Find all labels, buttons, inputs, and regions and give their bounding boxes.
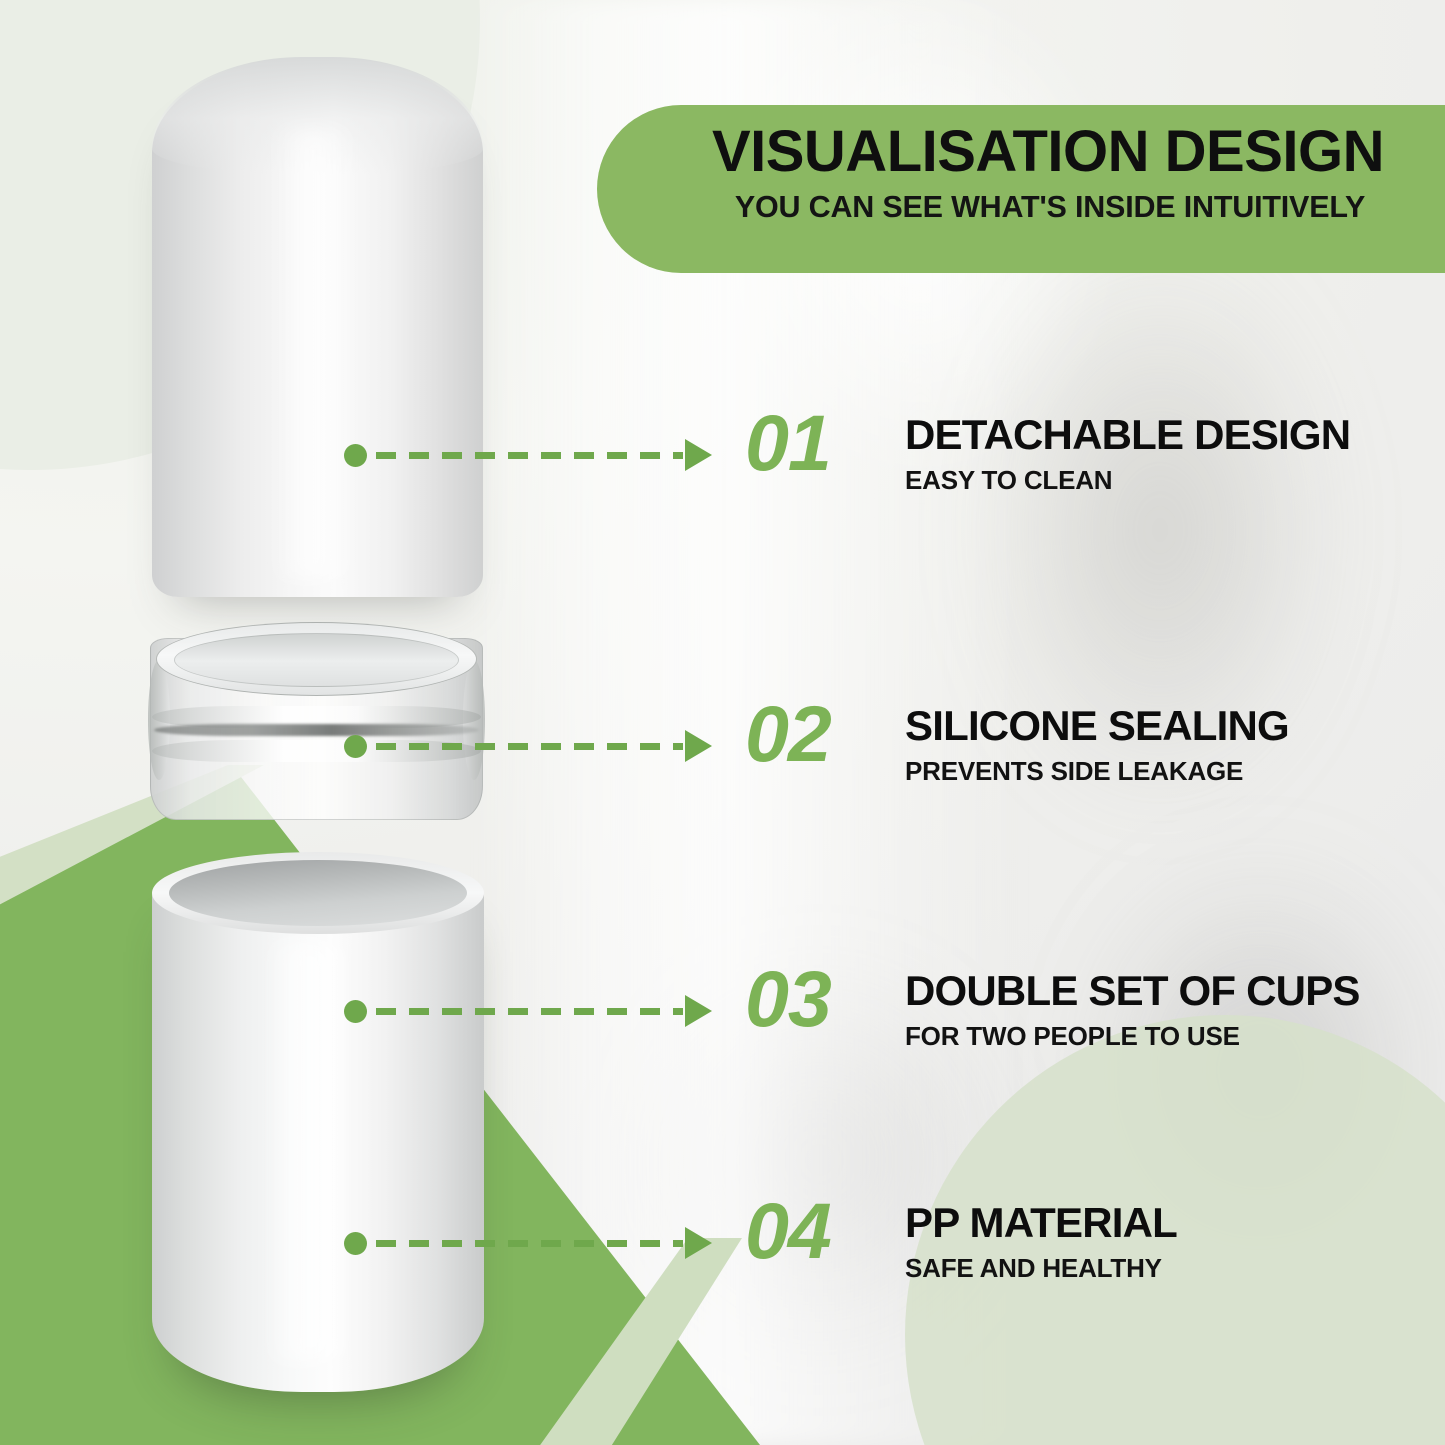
product-top-cap <box>152 57 483 597</box>
callout-subtitle: SAFE AND HEALTHY <box>905 1254 1177 1283</box>
callout-title: DETACHABLE DESIGN <box>905 414 1350 457</box>
cup-highlight <box>264 942 356 1362</box>
cup-rim-inner <box>169 860 467 926</box>
callout-title: SILICONE SEALING <box>905 705 1289 748</box>
ring-top-inner-wall <box>174 633 459 687</box>
callout-2: 02 SILICONE SEALING PREVENTS SIDE LEAKAG… <box>745 705 1289 785</box>
callout-title: PP MATERIAL <box>905 1202 1177 1245</box>
callout-text-block: DOUBLE SET OF CUPS FOR TWO PEOPLE TO USE <box>905 970 1360 1050</box>
arrow-right-icon <box>685 730 712 762</box>
callout-subtitle: FOR TWO PEOPLE TO USE <box>905 1022 1360 1051</box>
header-banner: VISUALISATION DESIGN YOU CAN SEE WHAT'S … <box>597 105 1445 273</box>
callout-title: DOUBLE SET OF CUPS <box>905 970 1360 1013</box>
page-title: VISUALISATION DESIGN <box>647 121 1435 182</box>
connector-line-4 <box>344 1228 712 1258</box>
connector-dashes <box>376 1240 683 1247</box>
product-clear-threaded-ring <box>150 620 483 832</box>
callout-subtitle: PREVENTS SIDE LEAKAGE <box>905 757 1289 786</box>
connector-dot-icon <box>344 1000 367 1023</box>
arrow-right-icon <box>685 1227 712 1259</box>
callout-number: 03 <box>745 964 905 1034</box>
callout-text-block: SILICONE SEALING PREVENTS SIDE LEAKAGE <box>905 705 1289 785</box>
connector-dot-icon <box>344 1232 367 1255</box>
cap-highlight <box>270 129 356 579</box>
callout-4: 04 PP MATERIAL SAFE AND HEALTHY <box>745 1202 1177 1282</box>
connector-line-1 <box>344 440 712 470</box>
connector-dashes <box>376 452 683 459</box>
connector-dashes <box>376 743 683 750</box>
connector-line-3 <box>344 996 712 1026</box>
arrow-right-icon <box>685 995 712 1027</box>
arrow-right-icon <box>685 439 712 471</box>
callout-1: 01 DETACHABLE DESIGN EASY TO CLEAN <box>745 414 1350 494</box>
product-bottom-cup <box>152 852 484 1392</box>
callout-text-block: PP MATERIAL SAFE AND HEALTHY <box>905 1202 1177 1282</box>
connector-line-2 <box>344 731 712 761</box>
connector-dot-icon <box>344 735 367 758</box>
connector-dashes <box>376 1008 683 1015</box>
callout-subtitle: EASY TO CLEAN <box>905 466 1350 495</box>
callout-text-block: DETACHABLE DESIGN EASY TO CLEAN <box>905 414 1350 494</box>
callout-number: 02 <box>745 699 905 769</box>
callout-number: 04 <box>745 1196 905 1266</box>
callout-number: 01 <box>745 408 905 478</box>
connector-dot-icon <box>344 444 367 467</box>
page-subtitle: YOU CAN SEE WHAT'S INSIDE INTUITIVELY <box>647 191 1435 225</box>
callout-3: 03 DOUBLE SET OF CUPS FOR TWO PEOPLE TO … <box>745 970 1360 1050</box>
